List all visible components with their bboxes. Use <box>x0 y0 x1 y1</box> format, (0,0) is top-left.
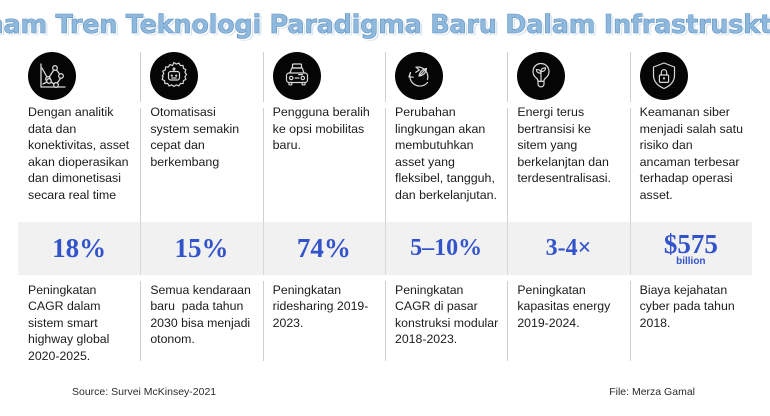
column-1-caption-cell: Peningkatan CAGR dalam sistem smart high… <box>18 275 140 361</box>
column-6-description-cell: Keamanan siber menjadi salah satu risiko… <box>630 102 752 222</box>
description-text: Perubahan lingkungan akan membutuhkan as… <box>395 104 498 204</box>
stat-value: 74% <box>297 234 351 263</box>
column-3-stat-cell: 74% <box>263 222 385 275</box>
stat-unit-label: billion <box>676 257 705 267</box>
stat-value: 15% <box>174 234 228 263</box>
caption-text: Peningkatan CAGR dalam sistem smart high… <box>28 282 131 364</box>
stat-value: 5–10% <box>410 234 482 263</box>
description-text: Keamanan siber menjadi salah satu risiko… <box>640 104 743 204</box>
taxi-icon <box>273 52 321 100</box>
column-2-description-cell: Otomatisasi system semakin cepat dan ber… <box>140 102 262 222</box>
column-4-description-cell: Perubahan lingkungan akan membutuhkan as… <box>385 102 507 222</box>
caption-row: Peningkatan CAGR dalam sistem smart high… <box>18 275 752 361</box>
column-5-caption-cell: Peningkatan kapasitas energy 2019-2024. <box>507 275 629 361</box>
shield-lock-icon <box>640 52 688 100</box>
column-6-caption-cell: Biaya kejahatan cyber pada tahun 2018. <box>630 275 752 361</box>
description-text: Otomatisasi system semakin cepat dan ber… <box>150 104 253 170</box>
column-4-stat-cell: 5–10% <box>385 222 507 275</box>
column-4-caption-cell: Peningkatan CAGR di pasar konstruksi mod… <box>385 275 507 361</box>
infographic-board: Dengan analitik data dan konektivitas, a… <box>18 46 752 361</box>
description-row: Dengan analitik data dan konektivitas, a… <box>18 102 752 222</box>
title-bar: Enam Tren Teknologi Paradigma Baru Dalam… <box>0 0 770 46</box>
leaf-recycle-icon <box>395 52 443 100</box>
column-1-description-cell: Dengan analitik data dan konektivitas, a… <box>18 102 140 222</box>
column-6-icon-cell <box>630 46 752 102</box>
column-3-icon-cell <box>263 46 385 102</box>
caption-text: Semua kendaraan baru pada tahun 2030 bis… <box>150 282 253 348</box>
lightbulb-plant-icon <box>517 52 565 100</box>
footer: Source: Survei McKinsey-2021 File: Merza… <box>0 386 770 406</box>
stat-value: $575 <box>664 230 718 259</box>
robot-gear-icon <box>150 52 198 100</box>
file-label: File: Merza Gamal <box>609 386 695 398</box>
icon-row <box>18 46 752 102</box>
description-text: Energi terus bertransisi ke sitem yang b… <box>517 104 620 187</box>
column-6-stat-cell: $575 billion <box>630 222 752 275</box>
stat-value: 18% <box>52 234 106 263</box>
page-title: Enam Tren Teknologi Paradigma Baru Dalam… <box>0 10 770 40</box>
caption-text: Peningkatan ridesharing 2019-2023. <box>273 282 376 331</box>
column-5-icon-cell <box>507 46 629 102</box>
column-3-description-cell: Pengguna beralih ke opsi mobilitas baru. <box>263 102 385 222</box>
statistics-band: 18% 15% 74% 5–10% 3-4× $575 billion <box>18 222 752 275</box>
column-5-description-cell: Energi terus bertransisi ke sitem yang b… <box>507 102 629 222</box>
source-label: Source: Survei McKinsey-2021 <box>72 386 216 398</box>
column-2-icon-cell <box>140 46 262 102</box>
column-4-icon-cell <box>385 46 507 102</box>
stat-value: 3-4× <box>546 234 592 263</box>
column-3-caption-cell: Peningkatan ridesharing 2019-2023. <box>263 275 385 361</box>
caption-text: Biaya kejahatan cyber pada tahun 2018. <box>640 282 743 331</box>
description-text: Dengan analitik data dan konektivitas, a… <box>28 104 131 204</box>
statistics-row: 18% 15% 74% 5–10% 3-4× $575 billion <box>18 222 752 275</box>
caption-text: Peningkatan CAGR di pasar konstruksi mod… <box>395 282 498 348</box>
column-1-stat-cell: 18% <box>18 222 140 275</box>
column-5-stat-cell: 3-4× <box>507 222 629 275</box>
column-2-stat-cell: 15% <box>140 222 262 275</box>
column-1-icon-cell <box>18 46 140 102</box>
caption-text: Peningkatan kapasitas energy 2019-2024. <box>517 282 620 331</box>
column-2-caption-cell: Semua kendaraan baru pada tahun 2030 bis… <box>140 275 262 361</box>
line-chart-icon <box>28 52 76 100</box>
description-text: Pengguna beralih ke opsi mobilitas baru. <box>273 104 376 154</box>
